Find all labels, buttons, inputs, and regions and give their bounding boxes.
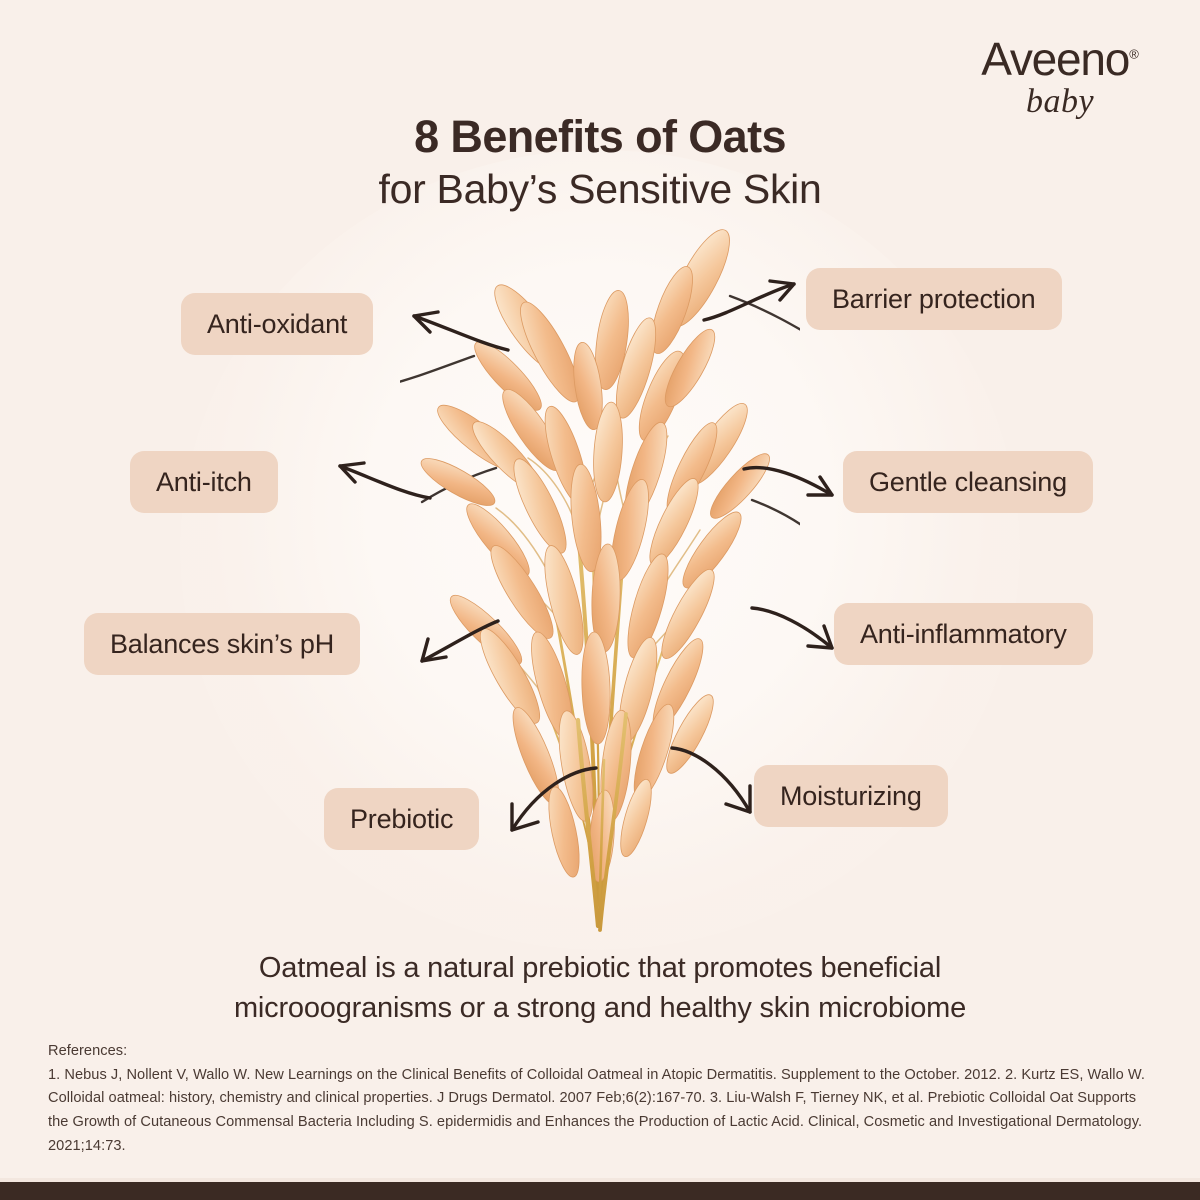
references-label: References: (48, 1040, 1154, 1064)
infographic-canvas: Aveeno® baby 8 Benefits of Oats for Baby… (0, 0, 1200, 1200)
benefit-pill-moisturizing[interactable]: Moisturizing (754, 765, 948, 827)
benefit-pill-balances-skins-ph[interactable]: Balances skin’s pH (84, 613, 360, 675)
benefit-pill-barrier-protection[interactable]: Barrier protection (806, 268, 1062, 330)
benefit-label: Anti-inflammatory (860, 619, 1067, 650)
summary-caption: Oatmeal is a natural prebiotic that prom… (150, 948, 1050, 1028)
benefit-pill-gentle-cleansing[interactable]: Gentle cleansing (843, 451, 1093, 513)
brand-logo: Aveeno® baby (960, 36, 1160, 121)
bottom-accent-strip (0, 1182, 1200, 1200)
registered-trademark-icon: ® (1129, 47, 1139, 62)
benefit-label: Gentle cleansing (869, 467, 1067, 498)
benefit-pill-prebiotic[interactable]: Prebiotic (324, 788, 479, 850)
benefit-label: Anti-oxidant (207, 309, 347, 340)
references-block: References: 1. Nebus J, Nollent V, Wallo… (48, 1040, 1154, 1158)
brand-name-text: Aveeno (981, 33, 1129, 85)
benefit-pill-anti-itch[interactable]: Anti-itch (130, 451, 278, 513)
references-text: 1. Nebus J, Nollent V, Wallo W. New Lear… (48, 1064, 1154, 1159)
benefit-label: Moisturizing (780, 781, 922, 812)
benefit-pill-anti-inflammatory[interactable]: Anti-inflammatory (834, 603, 1093, 665)
benefit-label: Balances skin’s pH (110, 629, 334, 660)
title-primary: 8 Benefits of Oats (0, 112, 1200, 162)
benefit-label: Barrier protection (832, 284, 1036, 315)
benefit-label: Anti-itch (156, 467, 252, 498)
brand-name: Aveeno® (960, 36, 1160, 82)
benefit-pill-anti-oxidant[interactable]: Anti-oxidant (181, 293, 373, 355)
benefit-label: Prebiotic (350, 804, 453, 835)
